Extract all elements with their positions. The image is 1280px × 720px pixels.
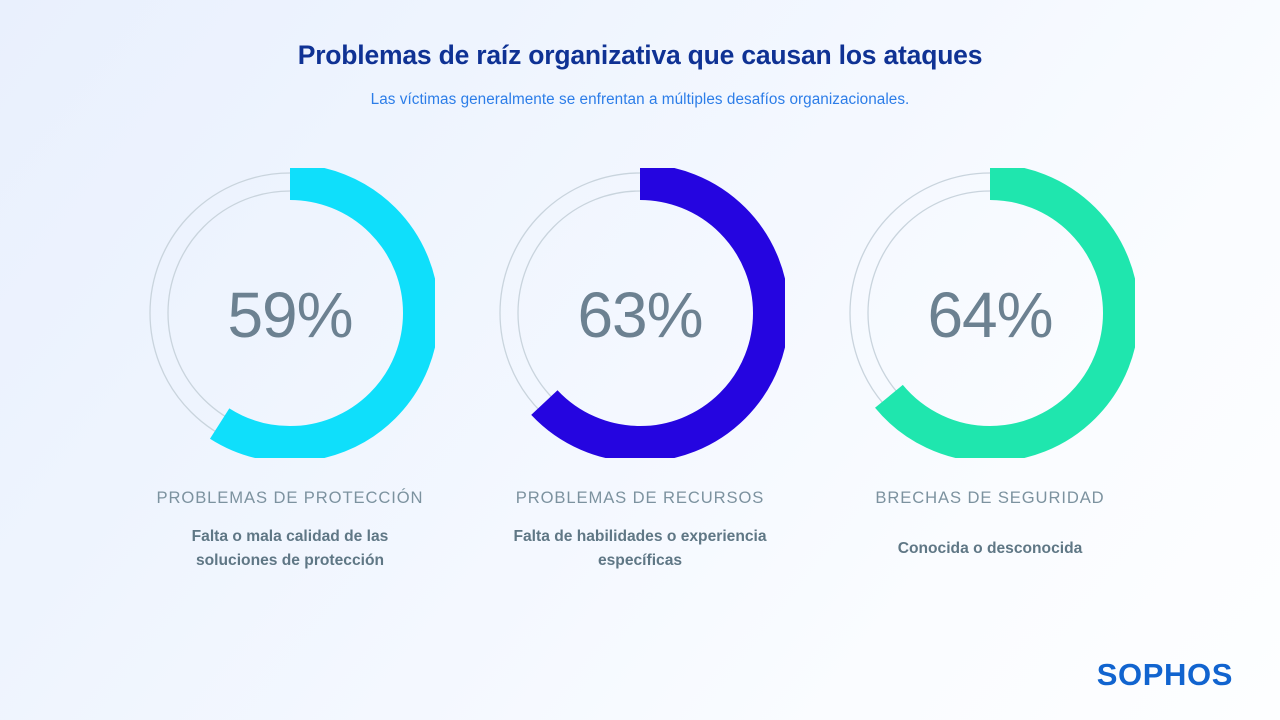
donut-percent-label: 64% [927,283,1052,347]
donut-chart-resources: 63% [495,168,785,458]
stat-description: Falta o mala calidad de las soluciones d… [155,525,425,572]
stat-caption-protection: PROBLEMAS DE PROTECCIÓN Falta o mala cal… [155,485,425,573]
stat-card-security-gaps: 64% BRECHAS DE SEGURIDAD Conocida o desc… [815,168,1165,561]
stat-description: Falta de habilidades o experiencia espec… [505,525,775,572]
donut-chart-protection: 59% [145,168,435,458]
donut-chart-row: 59% PROBLEMAS DE PROTECCIÓN Falta o mala… [0,168,1280,573]
sophos-logo: SOPHOS [1097,657,1233,693]
donut-chart-security-gaps: 64% [845,168,1135,458]
stat-card-resources: 63% PROBLEMAS DE RECURSOS Falta de habil… [465,168,815,573]
page-subtitle: Las víctimas generalmente se enfrentan a… [0,91,1280,109]
infographic-slide: Problemas de raíz organizativa que causa… [0,0,1280,720]
stat-description: Conocida o desconocida [855,537,1125,561]
stat-label: BRECHAS DE SEGURIDAD [855,485,1125,511]
page-title: Problemas de raíz organizativa que causa… [0,40,1280,72]
header: Problemas de raíz organizativa que causa… [0,0,1280,109]
stat-label: PROBLEMAS DE RECURSOS [505,485,775,511]
donut-percent-label: 63% [577,283,702,347]
donut-percent-label: 59% [227,283,352,347]
stat-label: PROBLEMAS DE PROTECCIÓN [155,485,425,511]
stat-caption-resources: PROBLEMAS DE RECURSOS Falta de habilidad… [505,485,775,573]
stat-card-protection: 59% PROBLEMAS DE PROTECCIÓN Falta o mala… [115,168,465,573]
stat-caption-security-gaps: BRECHAS DE SEGURIDAD Conocida o desconoc… [855,485,1125,561]
